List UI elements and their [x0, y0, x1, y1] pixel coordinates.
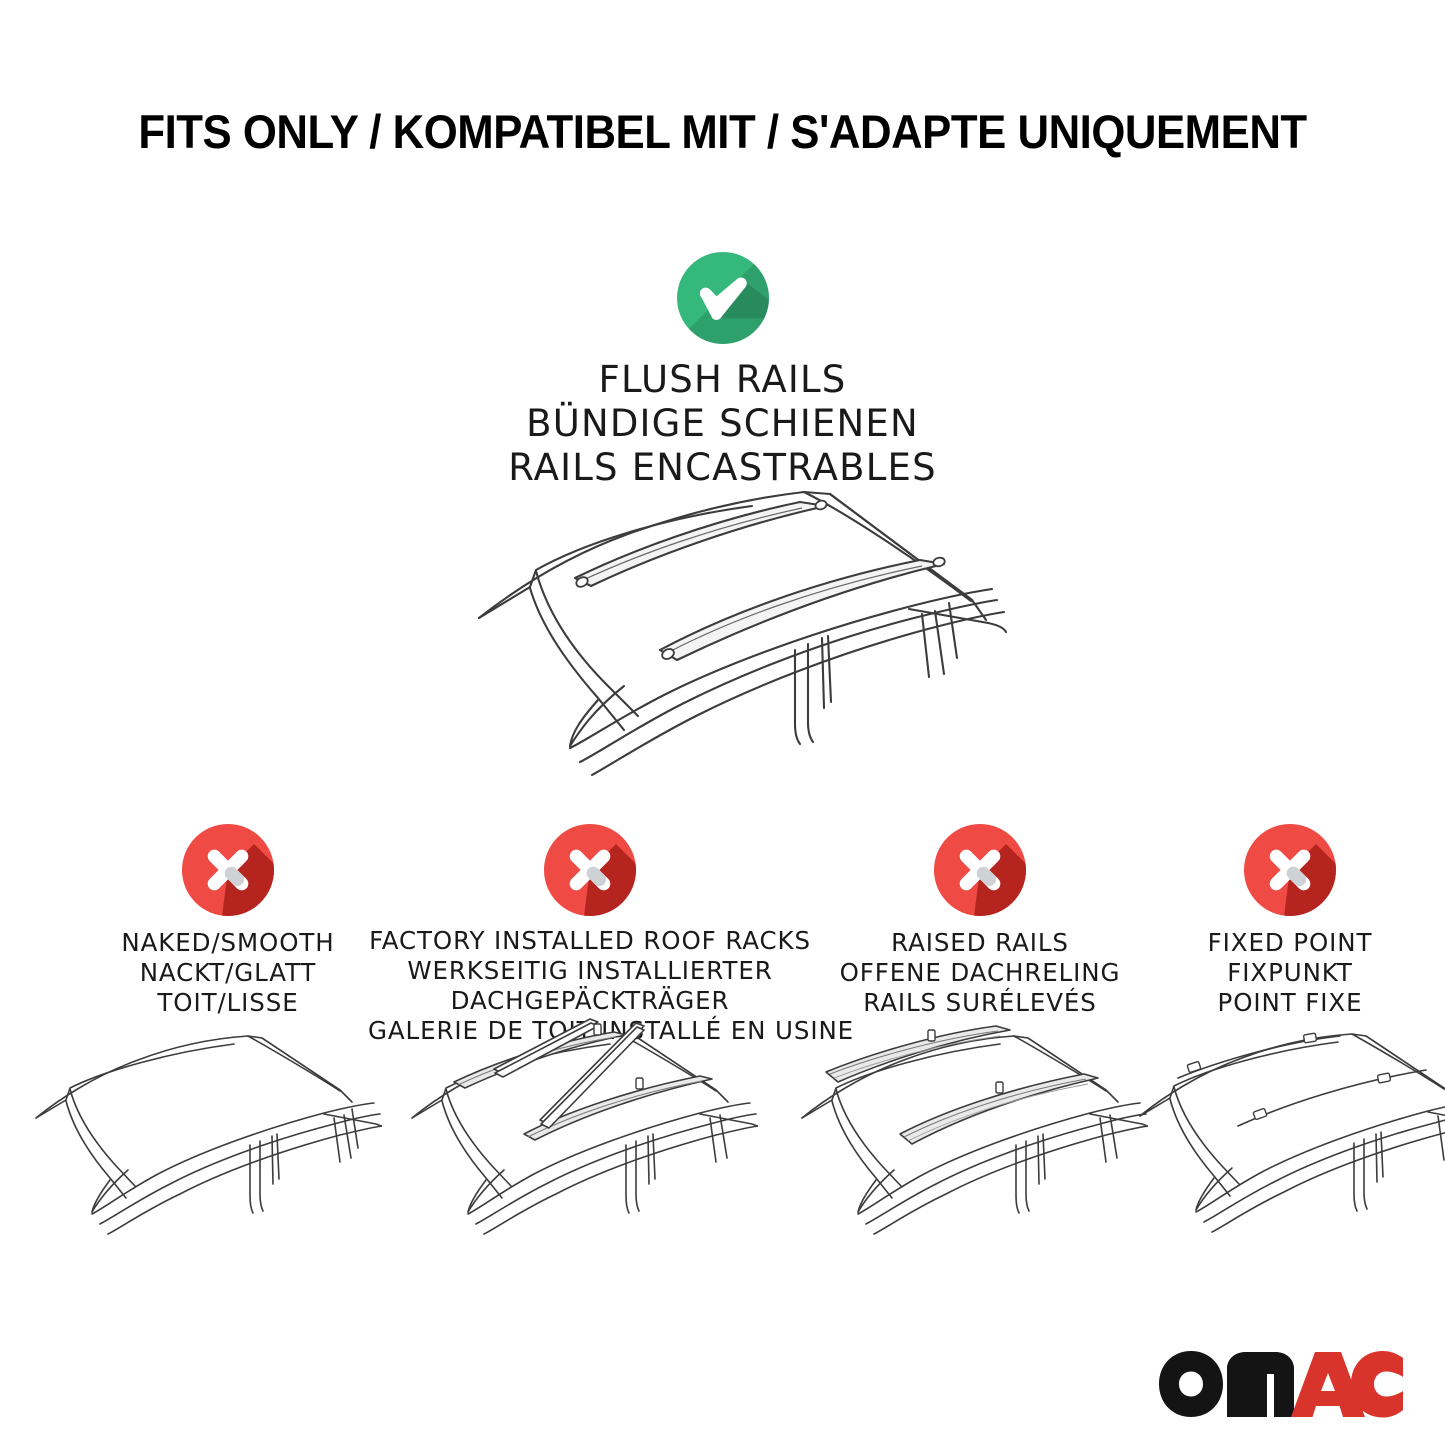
checkmark-glyph: [677, 252, 769, 344]
compatible-section: FLUSH RAILS BÜNDIGE SCHIENEN RAILS ENCAS…: [0, 252, 1445, 490]
incompatible-label-de: FIXPUNKT: [1140, 958, 1440, 988]
red-x-circle-icon: [544, 824, 636, 916]
incompatible-label-en: RAISED RAILS: [805, 928, 1155, 958]
incompatible-label-en: FIXED POINT: [1140, 928, 1440, 958]
omac-logo: [1155, 1345, 1407, 1423]
compatibility-infographic: FITS ONLY / KOMPATIBEL MIT / S'ADAPTE UN…: [0, 0, 1445, 1445]
car-roof-with-crossbars-illustration: [398, 1006, 758, 1236]
flush-rail-upper: [575, 499, 828, 588]
logo-letter-m: [1227, 1352, 1294, 1417]
omac-wordmark: [1155, 1345, 1407, 1423]
incompatible-illustrations: [0, 1006, 1445, 1236]
car-roof-bare-illustration: [22, 1020, 382, 1250]
logo-letter-o: [1159, 1351, 1223, 1417]
compatible-labels: FLUSH RAILS BÜNDIGE SCHIENEN RAILS ENCAS…: [0, 358, 1445, 490]
compatible-label-en: FLUSH RAILS: [0, 358, 1445, 402]
raised-rail-roof-drawing: [788, 1006, 1148, 1236]
red-x-circle-icon: [934, 824, 1026, 916]
x-mark-glyph: [934, 824, 1026, 916]
red-x-circle-icon: [182, 824, 274, 916]
fixed-point-pads: [1187, 1033, 1391, 1120]
incompatible-label-de: OFFENE DACHRELING: [805, 958, 1155, 988]
x-mark-glyph: [544, 824, 636, 916]
incompatible-labels: RAISED RAILS OFFENE DACHRELING RAILS SUR…: [805, 928, 1155, 1018]
crossbar-roof-drawing: [398, 1006, 758, 1236]
car-roof-with-fixed-points-illustration: [1126, 1018, 1445, 1248]
car-roof-with-flush-rails-illustration: [452, 472, 1012, 792]
incompatible-item-raised-rails: RAISED RAILS OFFENE DACHRELING RAILS SUR…: [805, 824, 1155, 1018]
x-mark-glyph: [1244, 824, 1336, 916]
incompatible-item-fixed-point: FIXED POINT FIXPUNKT POINT FIXE: [1140, 824, 1440, 1018]
incompatible-section: NAKED/SMOOTH NACKT/GLATT TOIT/LISSE FACT…: [0, 824, 1445, 1014]
x-mark-glyph: [182, 824, 274, 916]
flush-rail-roof-drawing: [452, 472, 1012, 792]
raised-rail-upper: [826, 1026, 1010, 1082]
incompatible-label-de-1: WERKSEITIG INSTALLIERTER: [368, 956, 812, 986]
page-title: FITS ONLY / KOMPATIBEL MIT / S'ADAPTE UN…: [51, 104, 1395, 160]
compatible-label-de: BÜNDIGE SCHIENEN: [0, 402, 1445, 446]
fixed-point-roof-drawing: [1126, 1018, 1445, 1238]
incompatible-labels: FIXED POINT FIXPUNKT POINT FIXE: [1140, 928, 1440, 1018]
bare-roof-drawing: [22, 1020, 382, 1240]
car-roof-with-raised-rails-illustration: [788, 1006, 1148, 1236]
red-x-circle-icon: [1244, 824, 1336, 916]
green-check-circle-icon: [677, 252, 769, 344]
incompatible-label-en: FACTORY INSTALLED ROOF RACKS: [368, 926, 812, 956]
